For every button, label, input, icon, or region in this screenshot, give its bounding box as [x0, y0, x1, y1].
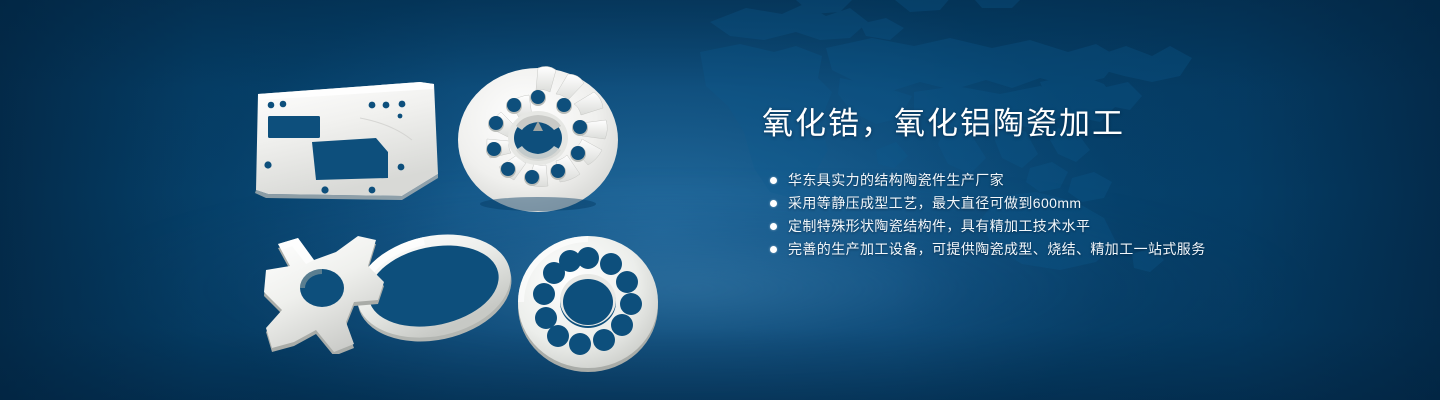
hero-banner: 氧化锆，氧化铝陶瓷加工 华东具实力的结构陶瓷件生产厂家 采用等静压成型工艺，最大… — [0, 0, 1440, 400]
list-item-label: 采用等静压成型工艺，最大直径可做到600mm — [788, 192, 1081, 215]
feature-list: 华东具实力的结构陶瓷件生产厂家 采用等静压成型工艺，最大直径可做到600mm 定… — [762, 169, 1362, 261]
list-item-label: 定制特殊形状陶瓷结构件，具有精加工技术水平 — [788, 215, 1090, 238]
list-item: 定制特殊形状陶瓷结构件，具有精加工技术水平 — [762, 215, 1362, 238]
ceramic-cross-shaped-part — [250, 226, 402, 354]
list-item: 完善的生产加工设备，可提供陶瓷成型、烧结、精加工一站式服务 — [762, 238, 1362, 261]
list-item-label: 华东具实力的结构陶瓷件生产厂家 — [788, 169, 1004, 192]
ceramic-plate-with-cutouts — [252, 78, 442, 200]
banner-copy: 氧化锆，氧化铝陶瓷加工 华东具实力的结构陶瓷件生产厂家 采用等静压成型工艺，最大… — [762, 104, 1362, 261]
ceramic-perforated-disc — [512, 228, 664, 376]
page-title: 氧化锆，氧化铝陶瓷加工 — [762, 104, 1362, 144]
bullet-dot-icon — [770, 223, 777, 230]
bullet-dot-icon — [770, 177, 777, 184]
bullet-dot-icon — [770, 246, 777, 253]
list-item-label: 完善的生产加工设备，可提供陶瓷成型、烧结、精加工一站式服务 — [788, 238, 1206, 261]
list-item: 华东具实力的结构陶瓷件生产厂家 — [762, 169, 1362, 192]
list-item: 采用等静压成型工艺，最大直径可做到600mm — [762, 192, 1362, 215]
ceramic-impeller-disc — [452, 52, 624, 218]
bullet-dot-icon — [770, 200, 777, 207]
